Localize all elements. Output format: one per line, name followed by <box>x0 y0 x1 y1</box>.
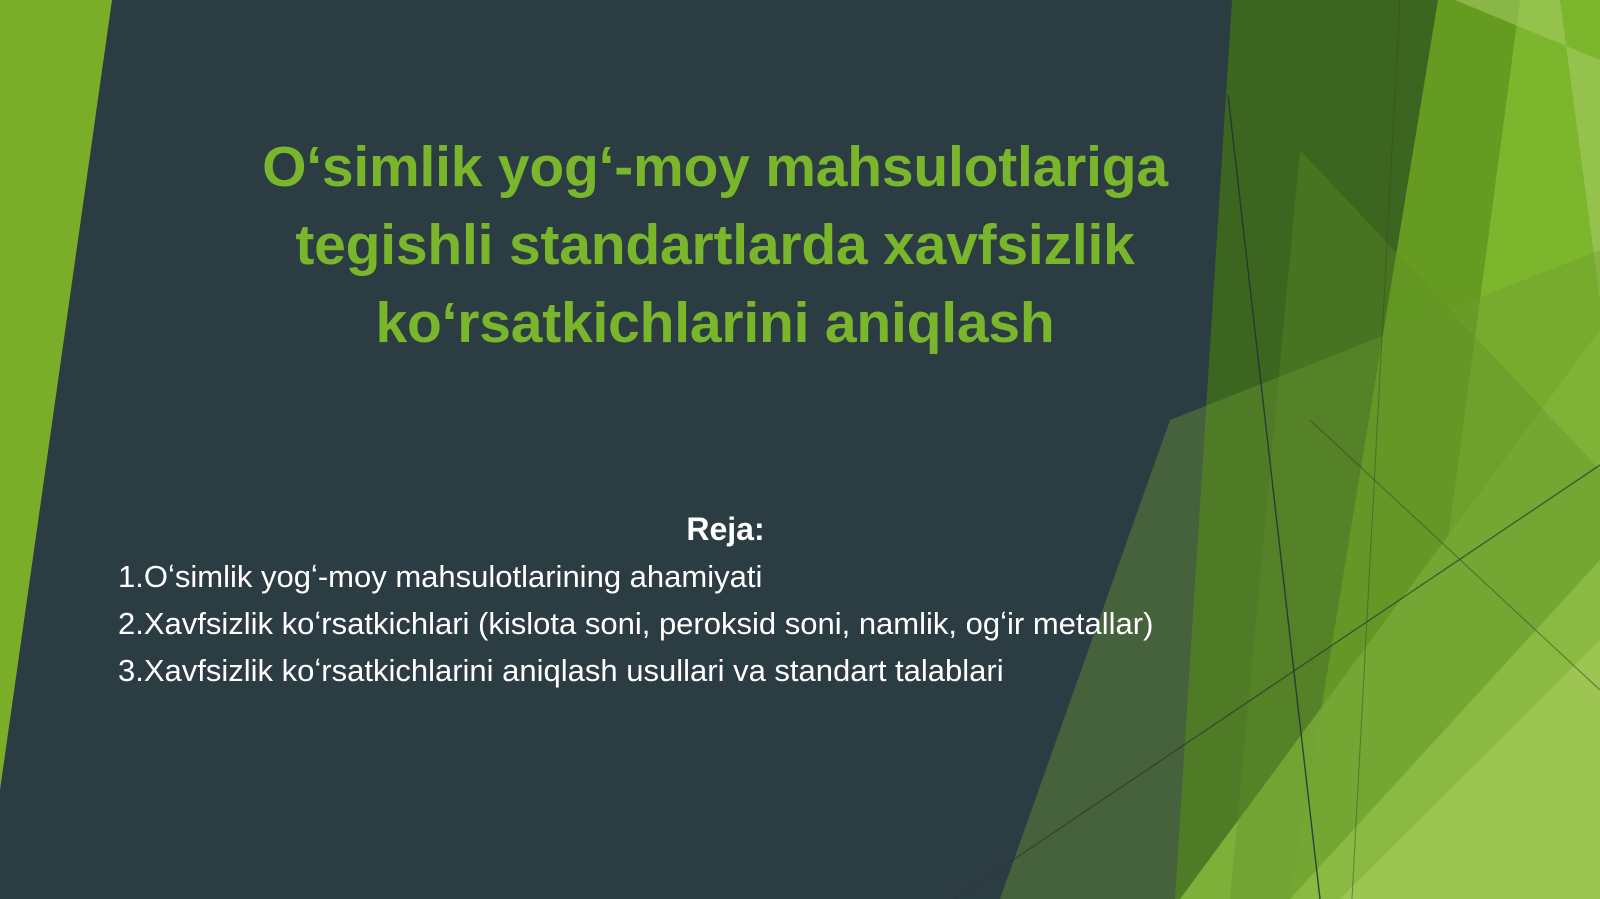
outline-item-3: 3.Xavfsizlik koʻrsatkichlarini aniqlash … <box>118 647 1333 694</box>
slide-title: Oʻsimlik yogʻ-moy mahsulotlariga tegishl… <box>110 128 1320 362</box>
outline-heading: Reja: <box>118 506 1333 553</box>
outline-item-1: 1.Oʻsimlik yogʻ-moy mahsulotlarining aha… <box>118 553 1333 600</box>
slide-content: Oʻsimlik yogʻ-moy mahsulotlariga tegishl… <box>0 0 1600 899</box>
presentation-slide: Oʻsimlik yogʻ-moy mahsulotlariga tegishl… <box>0 0 1600 899</box>
title-line-3: koʻrsatkichlarini aniqlash <box>110 284 1320 362</box>
title-line-1: Oʻsimlik yogʻ-moy mahsulotlariga <box>110 128 1320 206</box>
outline-block: Reja: 1.Oʻsimlik yogʻ-moy mahsulotlarini… <box>118 506 1333 694</box>
title-line-2: tegishli standartlarda xavfsizlik <box>110 206 1320 284</box>
outline-item-2: 2.Xavfsizlik koʻrsatkichlari (kislota so… <box>118 600 1333 647</box>
